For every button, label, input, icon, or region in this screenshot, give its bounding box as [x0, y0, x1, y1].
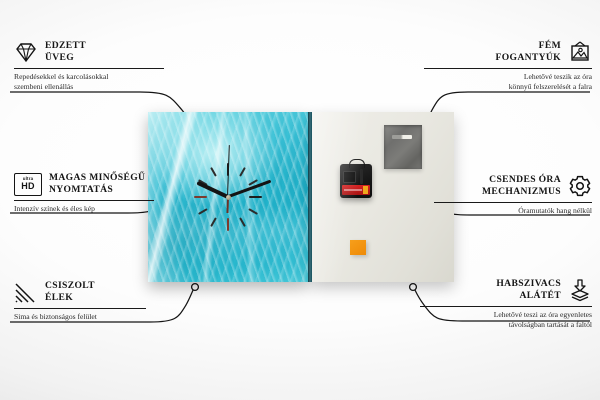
callout-hd-print[interactable]: ultra HD Magas minőségű nyomtatás Intenz…	[14, 172, 154, 214]
callout-silent-mechanism[interactable]: Csendes óra mechanizmus Óramutatók hang …	[434, 174, 592, 216]
gear-icon	[568, 174, 592, 198]
callout-rule	[420, 306, 592, 307]
ultra-hd-icon: ultra HD	[14, 173, 42, 196]
callout-subtitle: Sima és biztonságos felület	[14, 312, 146, 322]
foam-pad-down-arrow-icon	[568, 278, 592, 302]
callout-rule	[434, 202, 592, 203]
clock-front-panel	[148, 112, 308, 282]
clock-center-pin	[226, 195, 231, 200]
callout-title: Edzett üveg	[45, 40, 86, 65]
leader-dot-edges	[192, 284, 199, 291]
callout-metal-hooks[interactable]: Fém fogantyúk Lehetővé teszik az óra kön…	[424, 40, 592, 92]
foam-spacer-pad	[350, 240, 366, 255]
callout-title: Csendes óra mechanizmus	[482, 174, 561, 199]
callout-foam-pad[interactable]: Habszivacs alátét Lehetővé teszi az óra …	[420, 278, 592, 330]
infographic-stage: Edzett üveg Repedésekkel és karcolásokka…	[0, 0, 600, 400]
callout-tempered-glass[interactable]: Edzett üveg Repedésekkel és karcolásokka…	[14, 40, 164, 92]
quartz-movement	[340, 164, 372, 198]
callout-subtitle: Lehetővé teszik az óra könnyű felszerelé…	[424, 72, 592, 92]
framed-picture-hanging-icon	[568, 40, 592, 64]
callout-subtitle: Repedésekkel és karcolásokkal szembeni e…	[14, 72, 164, 92]
callout-subtitle: Intenzív színek és éles kép	[14, 204, 154, 214]
callout-subtitle: Óramutatók hang nélkül	[434, 206, 592, 216]
callout-title: Habszivacs alátét	[496, 278, 561, 303]
callout-rule	[14, 200, 154, 201]
callout-title: Csiszolt élek	[45, 280, 95, 305]
diamond-icon	[14, 40, 38, 64]
callout-rule	[14, 308, 146, 309]
metal-hanger-plate	[384, 125, 422, 169]
callout-title: Magas minőségű nyomtatás	[49, 172, 145, 197]
callout-subtitle: Lehetővé teszi az óra egyenletes távolsá…	[420, 310, 592, 330]
callout-rule	[424, 68, 592, 69]
leader-dot-foam	[410, 284, 417, 291]
callout-polished-edges[interactable]: Csiszolt élek Sima és biztonságos felüle…	[14, 280, 146, 322]
battery	[342, 185, 370, 195]
polished-edges-icon	[14, 280, 38, 304]
product-photo	[148, 112, 454, 282]
clock-dial	[148, 112, 308, 282]
callout-title: Fém fogantyúk	[495, 40, 561, 65]
clock-back-panel	[312, 112, 454, 282]
glass-edge	[308, 112, 312, 282]
callout-rule	[14, 68, 164, 69]
